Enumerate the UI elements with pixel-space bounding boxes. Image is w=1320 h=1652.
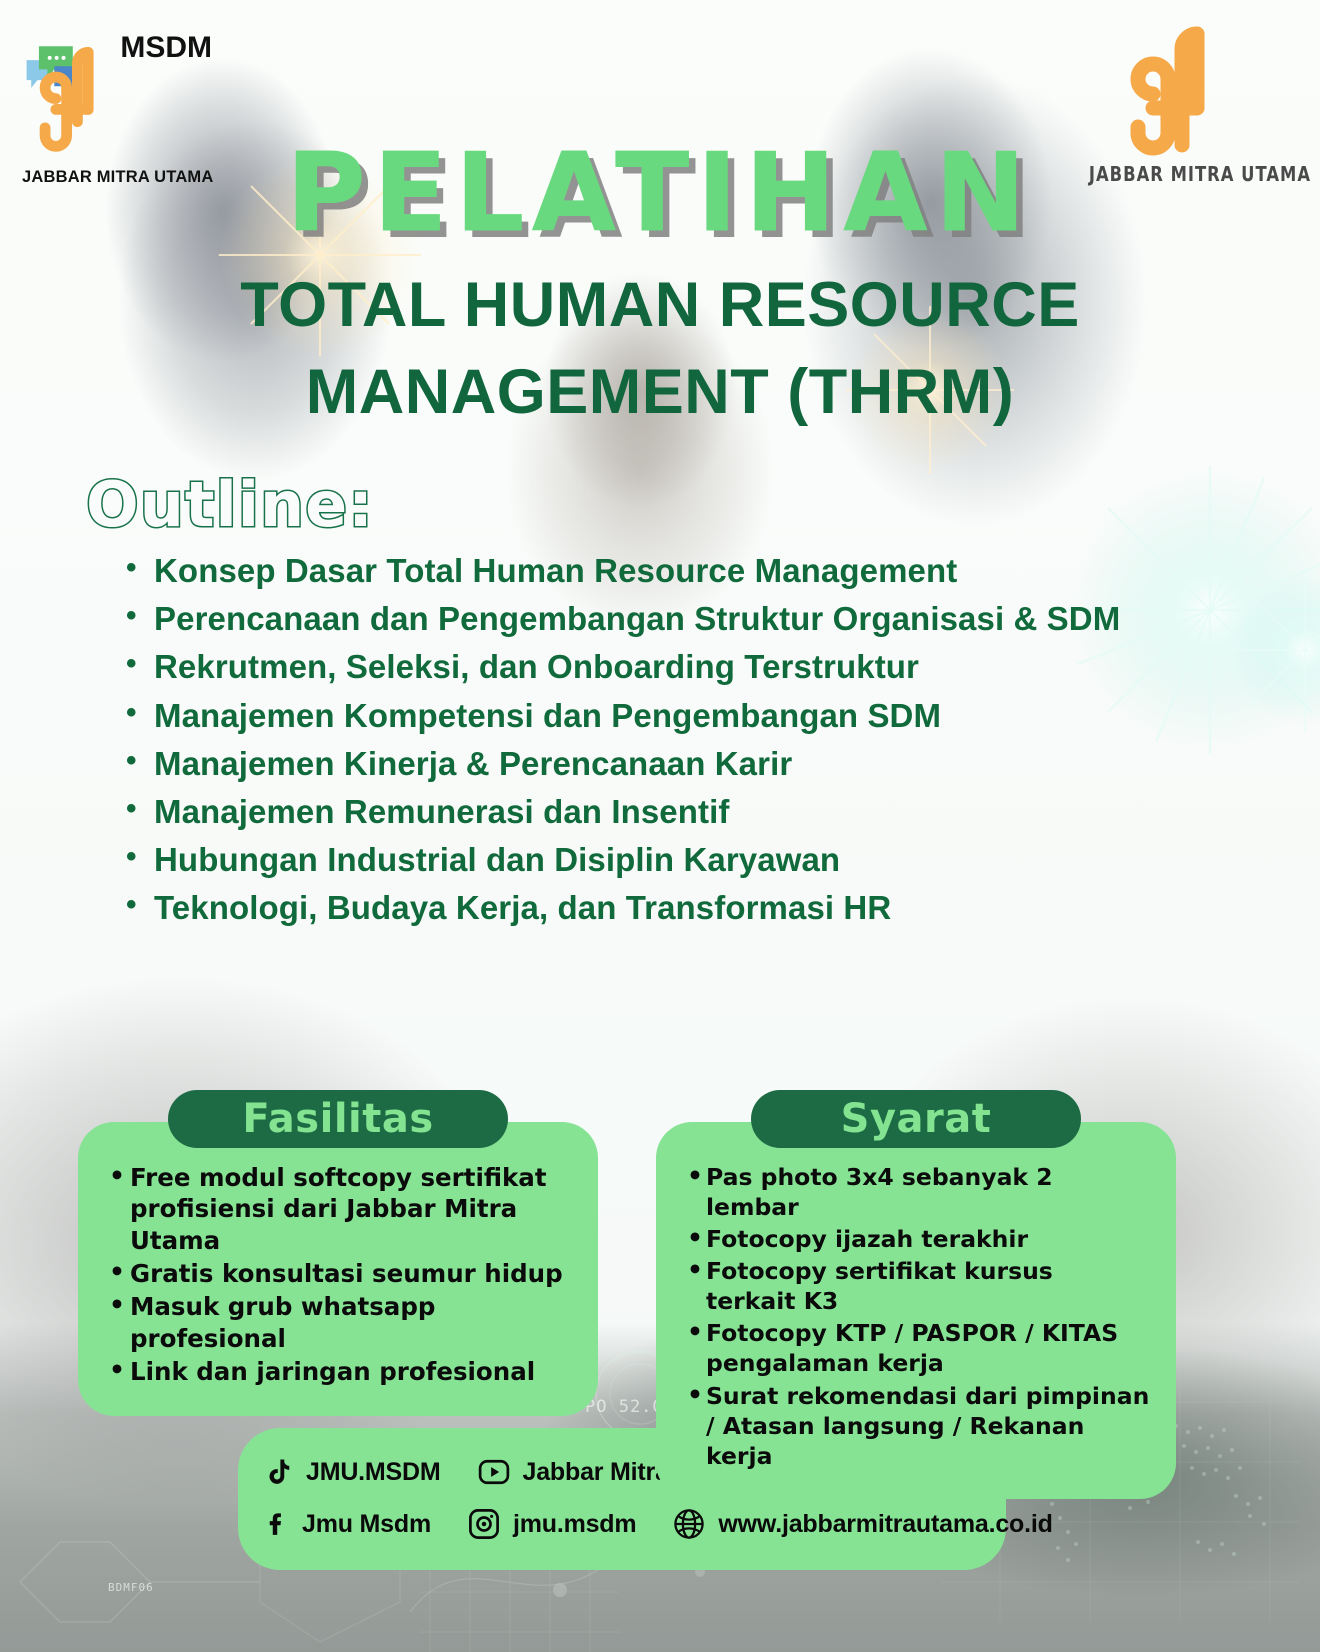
outline-item: Rekrutmen, Seleksi, dan Onboarding Terst… [122,644,1122,689]
title-block: PELATIHAN TOTAL HUMAN RESOURCE MANAGEMEN… [0,140,1320,434]
hud-label-bd: BDMF06 [108,1581,154,1594]
outline-item: Manajemen Remunerasi dan Insentif [122,789,1122,834]
social-tiktok[interactable]: JMU.MSDM [264,1455,441,1489]
social-instagram[interactable]: jmu.msdm [467,1507,636,1541]
website-label: www.jabbarmitrautama.co.id [718,1510,1052,1539]
fasilitas-heading-pill: Fasilitas [168,1090,508,1148]
social-instagram-label: jmu.msdm [513,1510,636,1539]
outline-item: Manajemen Kinerja & Perencanaan Karir [122,741,1122,786]
syarat-item: Surat rekomendasi dari pimpinan / Atasan… [682,1381,1150,1471]
fasilitas-card-body: Free modul softcopy sertifikat profisien… [78,1122,598,1416]
social-row-2: Jmu Msdm jmu.msdm [264,1498,980,1550]
syarat-heading: Syarat [841,1096,992,1142]
fasilitas-heading: Fasilitas [242,1096,433,1142]
outline-item: Manajemen Kompetensi dan Pengembangan SD… [122,693,1122,738]
outline-list: Konsep Dasar Total Human Resource Manage… [122,548,1122,934]
poster-canvas: PO 52.06 LC 88.01 BDMF06 MSDM JA [0,0,1320,1652]
page-title-line1: TOTAL HUMAN RESOURCE [0,264,1320,347]
instagram-icon[interactable] [467,1507,501,1541]
globe-icon[interactable] [672,1507,706,1541]
outline-item: Teknologi, Budaya Kerja, dan Transformas… [122,885,1122,930]
page-eyebrow-title: PELATIHAN [0,140,1320,248]
outline-item: Konsep Dasar Total Human Resource Manage… [122,548,1122,593]
jmu-monogram-logo-icon [1121,20,1229,160]
syarat-item: Fotocopy KTP / PASPOR / KITAS pengalaman… [682,1318,1150,1378]
fasilitas-item: Masuk grub whatsapp profesional [104,1291,572,1354]
website-link[interactable]: www.jabbarmitrautama.co.id [672,1507,1052,1541]
syarat-item: Fotocopy ijazah terakhir [682,1224,1150,1254]
social-facebook[interactable]: Jmu Msdm [264,1507,431,1541]
fasilitas-item: Free modul softcopy sertifikat profisien… [104,1162,572,1256]
social-facebook-label: Jmu Msdm [302,1510,431,1539]
social-tiktok-label: JMU.MSDM [306,1458,441,1487]
outline-item: Perencanaan dan Pengembangan Struktur Or… [122,596,1122,641]
fasilitas-item: Link dan jaringan profesional [104,1356,572,1387]
msdm-letters: MSDM [120,24,212,63]
page-title-line2: MANAGEMENT (THRM) [0,351,1320,434]
outline-item: Hubungan Industrial dan Disiplin Karyawa… [122,837,1122,882]
youtube-icon[interactable] [477,1455,511,1489]
outline-heading: Outline: [86,468,374,541]
fasilitas-item: Gratis konsultasi seumur hidup [104,1258,572,1289]
syarat-card: Syarat Pas photo 3x4 sebanyak 2 lembar F… [656,1090,1176,1499]
tiktok-icon[interactable] [264,1455,294,1489]
fasilitas-list: Free modul softcopy sertifikat profisien… [104,1162,572,1388]
facebook-icon[interactable] [264,1507,290,1541]
fasilitas-card: Fasilitas Free modul softcopy sertifikat… [78,1090,598,1416]
syarat-list: Pas photo 3x4 sebanyak 2 lembar Fotocopy… [682,1162,1150,1471]
syarat-item: Pas photo 3x4 sebanyak 2 lembar [682,1162,1150,1222]
syarat-heading-pill: Syarat [751,1090,1081,1148]
syarat-card-body: Pas photo 3x4 sebanyak 2 lembar Fotocopy… [656,1122,1176,1499]
syarat-item: Fotocopy sertifikat kursus terkait K3 [682,1256,1150,1316]
